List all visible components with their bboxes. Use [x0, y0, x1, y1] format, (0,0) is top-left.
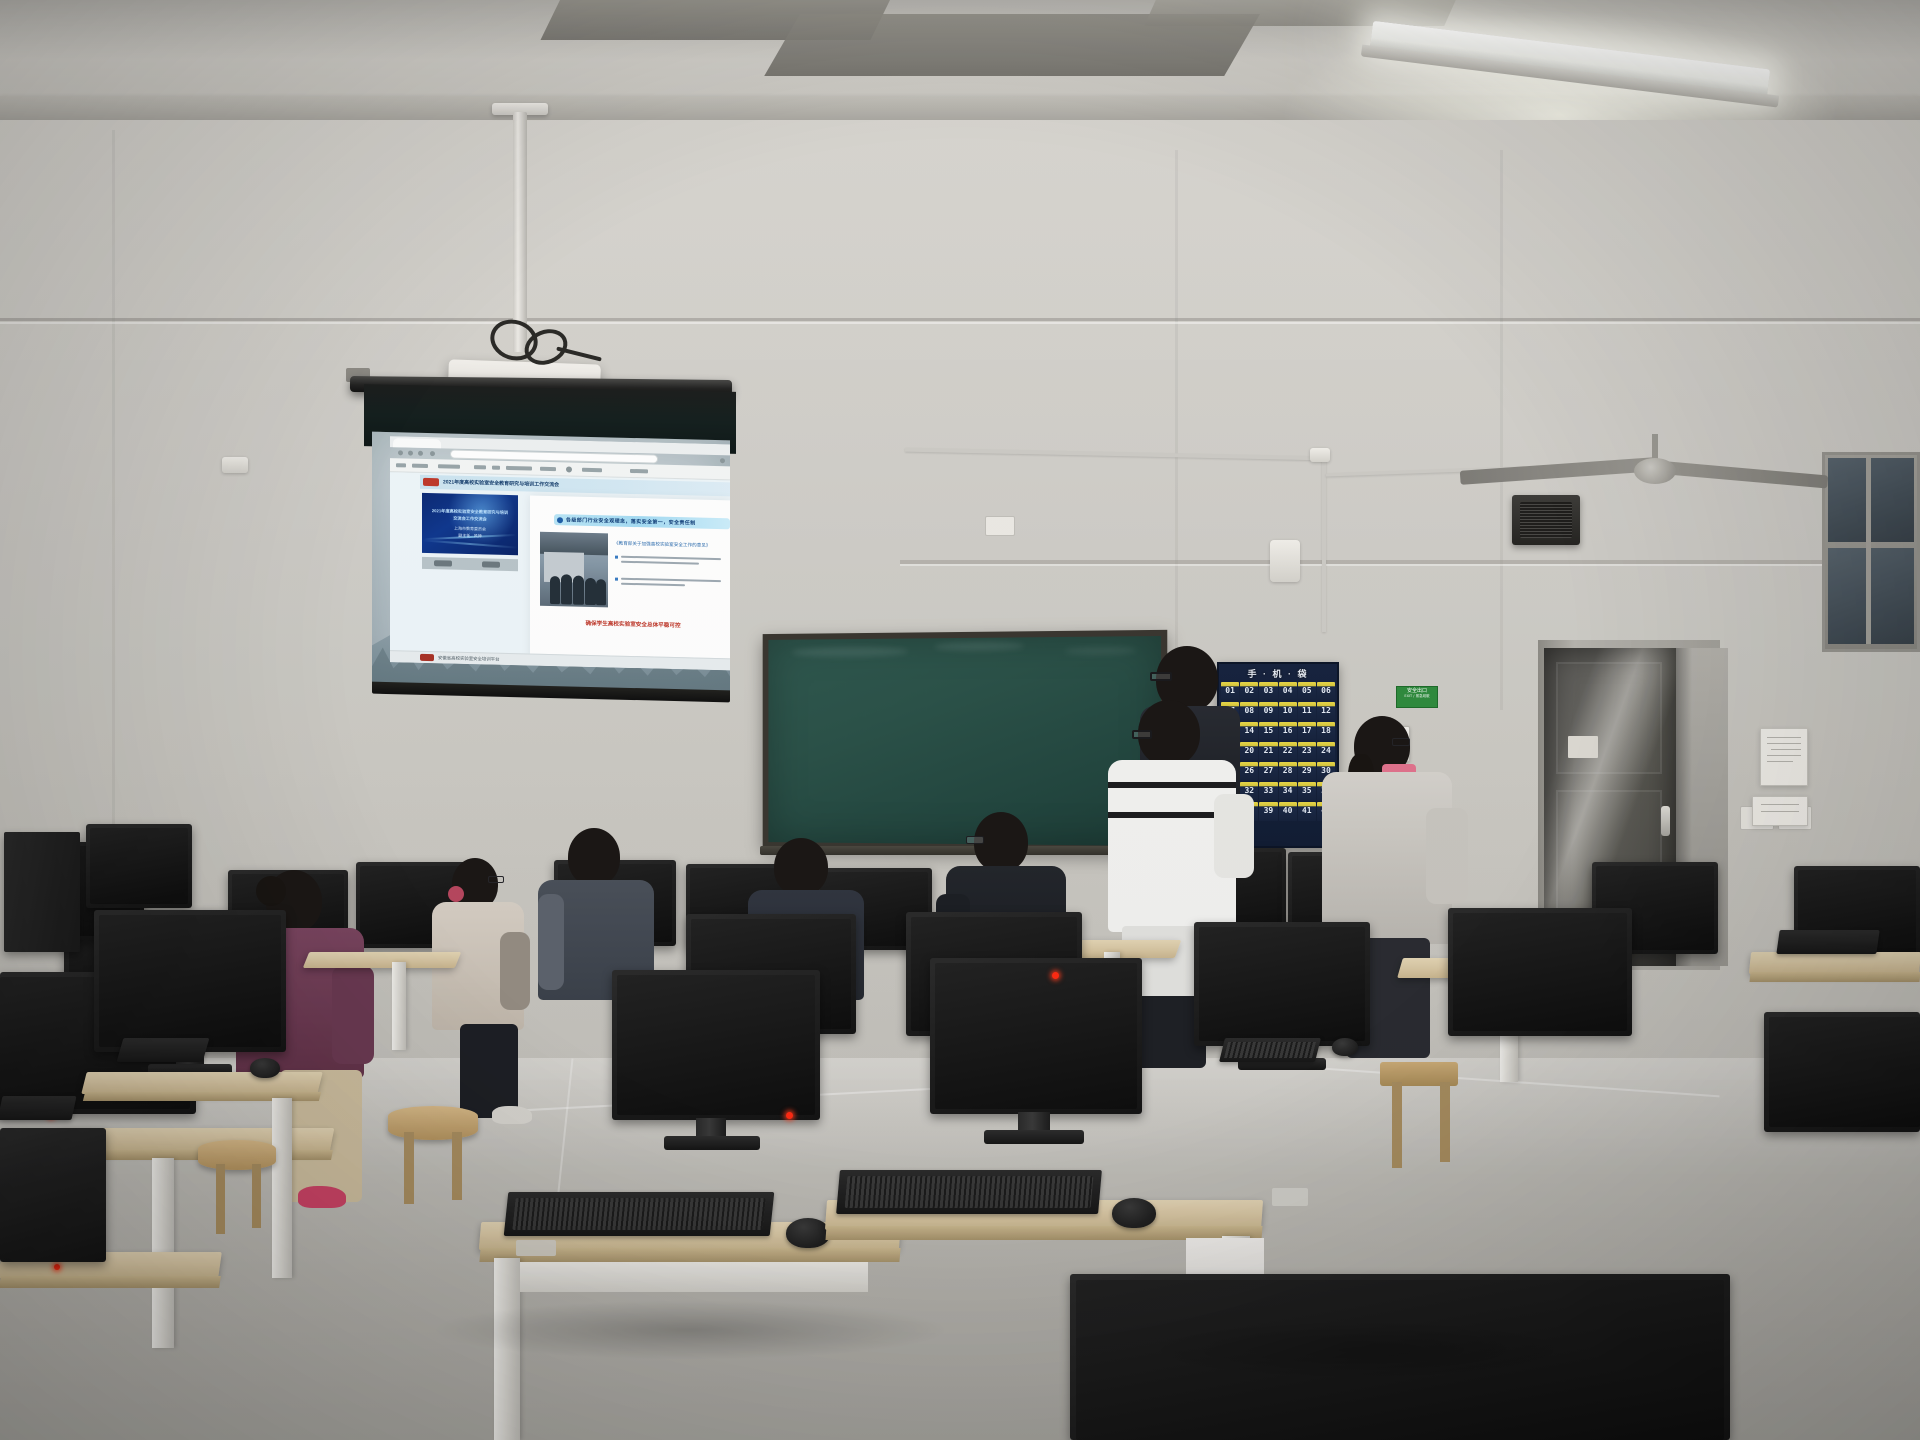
keyboard-farright[interactable]: [1776, 930, 1879, 954]
wall-poster-2: [1752, 796, 1808, 826]
desk-back-left: [303, 952, 461, 968]
thumbnail-play-button[interactable]: [482, 561, 500, 567]
pocket-slot-34[interactable]: 34: [1279, 782, 1297, 801]
slide-bullet-line-1a: [621, 556, 721, 560]
mouse-front-right[interactable]: [1112, 1198, 1156, 1228]
monitor-mid-5-screen: [1453, 913, 1627, 1031]
person-head: [568, 828, 620, 886]
person-sleeve: [538, 894, 564, 990]
classroom-photo: HITACHI: [0, 0, 1920, 1440]
mouse-front-center[interactable]: [786, 1218, 830, 1248]
poster-line: [1771, 749, 1801, 750]
ceiling-duct-3: [1144, 0, 1456, 26]
page-footer-logo-icon: [420, 654, 434, 661]
poster-line: [1767, 737, 1801, 738]
poster-line: [1761, 804, 1799, 805]
floor-shadow-right: [1140, 1320, 1580, 1380]
pocket-slot-06[interactable]: 06: [1317, 682, 1335, 701]
browser-home-icon[interactable]: [430, 451, 435, 456]
desk-farright: [1749, 952, 1920, 974]
slide-photo-person-1: [550, 576, 560, 604]
ceiling-fan-hub: [1634, 458, 1676, 484]
slide-photo: [540, 532, 608, 608]
slide-bullet-line-2a: [621, 578, 721, 582]
wall-band-lower-highlight: [900, 564, 1920, 566]
pocket-slot-03[interactable]: 03: [1259, 682, 1277, 701]
keyboard-front-left[interactable]: [0, 1096, 77, 1120]
pocket-slot-16[interactable]: 16: [1279, 722, 1297, 741]
tower-left: [4, 832, 80, 952]
desk-front-center-label: [516, 1240, 556, 1256]
chair-right-leg-1: [1392, 1082, 1402, 1168]
monitor-left-block-2-screen: [90, 828, 188, 904]
mouse-left-mid[interactable]: [250, 1058, 280, 1078]
pocket-slot-05[interactable]: 05: [1298, 682, 1316, 701]
slide-photo-person-5: [596, 579, 606, 605]
desk-front-right-label: [1272, 1188, 1308, 1206]
slide-bullet-dot-2: [615, 578, 618, 581]
pocket-slot-39[interactable]: 39: [1259, 802, 1277, 821]
chalk-smudge-2: [934, 641, 1024, 651]
browser-reload-icon[interactable]: [418, 451, 423, 456]
person-hair-tie: [448, 886, 464, 902]
wall-poster-1: [1760, 728, 1808, 786]
pocket-chart-row: 010203040506: [1221, 682, 1335, 701]
person-hair-bun: [256, 876, 286, 906]
exit-sign: 安全出口 EXIT / 紧急疏散: [1396, 686, 1438, 708]
person-glasses: [488, 876, 504, 883]
wall-band-upper: [0, 318, 1920, 321]
pocket-slot-02[interactable]: 02: [1240, 682, 1258, 701]
person-glasses: [1150, 672, 1172, 681]
pocket-slot-08[interactable]: 08: [1240, 702, 1258, 721]
pocket-slot-17[interactable]: 17: [1298, 722, 1316, 741]
pocket-slot-20[interactable]: 20: [1240, 742, 1258, 761]
slide-viewer[interactable]: 各级部门行业安全观理念，落实安全第一，安全责任制 《教育部关于加强高校实验室安全…: [530, 495, 730, 668]
slide-bullet-line-2b: [621, 583, 685, 587]
stool-left[interactable]: [198, 1140, 276, 1170]
wall-conduit-vertical: [1322, 452, 1326, 632]
pocket-slot-11[interactable]: 11: [1298, 702, 1316, 721]
pocket-slot-01[interactable]: 01: [1221, 682, 1239, 701]
pocket-slot-26[interactable]: 26: [1240, 762, 1258, 781]
toolbar-item-extra2[interactable]: [630, 469, 648, 473]
pocket-slot-29[interactable]: 29: [1298, 762, 1316, 781]
toolbar-item-help[interactable]: [540, 467, 556, 471]
pocket-slot-23[interactable]: 23: [1298, 742, 1316, 761]
person-shoe: [298, 1186, 346, 1208]
pocket-slot-41[interactable]: 41: [1298, 802, 1316, 821]
wall-seam-3: [1500, 150, 1503, 710]
stool-center-leg-2: [452, 1132, 462, 1200]
pocket-slot-09[interactable]: 09: [1259, 702, 1277, 721]
person-glasses: [1392, 738, 1410, 746]
person-head: [774, 838, 828, 896]
keyboard-left-mid[interactable]: [117, 1038, 210, 1062]
person-arm: [1214, 794, 1254, 878]
stool-left-leg: [216, 1164, 225, 1234]
monitor-farleft: [0, 1128, 106, 1262]
desk-back-left-leg: [392, 962, 406, 1050]
keyboard-mid-2-keys: [1224, 1042, 1316, 1058]
poster-line: [1767, 761, 1793, 762]
floor-shadow-center: [430, 1300, 950, 1360]
monitor-front-center-led: [786, 1112, 793, 1119]
window-glass-upper: [1828, 458, 1914, 542]
desk-front-center-apron: [520, 1262, 868, 1292]
toolbar-item-file[interactable]: [396, 463, 406, 467]
door-handle[interactable]: [1661, 806, 1670, 836]
keyboard-front-center-keys: [512, 1198, 765, 1230]
browser-menu-icon[interactable]: [720, 458, 725, 463]
person-leg: [460, 1024, 518, 1118]
poster-line: [1767, 743, 1801, 744]
wall-sensor-left: [222, 457, 248, 473]
monitor-front-right-base: [984, 1130, 1084, 1144]
wall-sensor-right: [1310, 448, 1330, 462]
browser-back-icon[interactable]: [398, 450, 403, 455]
pocket-slot-40[interactable]: 40: [1279, 802, 1297, 821]
green-chalkboard: [763, 630, 1168, 852]
thumbnail-wave-2: [422, 539, 518, 548]
keyboard-front-right-keys: [845, 1176, 1094, 1208]
slide-photo-person-3: [573, 576, 584, 605]
pocket-slot-12[interactable]: 12: [1317, 702, 1335, 721]
wall-outlet-1: [985, 516, 1015, 536]
slide-photo-person-2: [561, 574, 572, 604]
window-glass-lower: [1828, 548, 1914, 644]
chair-right-leg-2: [1440, 1082, 1450, 1162]
speaker-grill: [1520, 502, 1572, 538]
toolbar-search-icon[interactable]: [566, 466, 572, 472]
stool-center-leg-1: [404, 1132, 414, 1204]
pocket-slot-15[interactable]: 15: [1259, 722, 1277, 741]
pocket-slot-22[interactable]: 22: [1279, 742, 1297, 761]
exit-sign-line2: EXIT / 紧急疏散: [1399, 694, 1435, 698]
browser-window: 2021年度高校实验室安全教育研究与培训工作交流会 2021年度高校实验室安全教…: [390, 436, 730, 670]
door-sign: [1568, 736, 1598, 758]
poster-line: [1767, 755, 1801, 756]
monitor-front-center-screen: [617, 975, 815, 1115]
wall-band-upper-highlight: [0, 322, 1920, 324]
pocket-slot-04[interactable]: 04: [1279, 682, 1297, 701]
projection-screen: 2021年度高校实验室安全教育研究与培训工作交流会 2021年度高校实验室安全教…: [372, 432, 730, 695]
chalk-smudge-1: [791, 646, 908, 657]
slide-red-caption: 确保学生高校实验室安全总体平稳可控: [544, 618, 722, 632]
monitor-front-center-base: [664, 1136, 760, 1150]
pocket-slot-24[interactable]: 24: [1317, 742, 1335, 761]
monitor-farleft-led: [54, 1264, 60, 1270]
desk-left-mid: [81, 1072, 322, 1094]
desk-left-mid-leg: [272, 1098, 292, 1278]
presentation-thumbnail[interactable]: 2021年度高校实验室安全教育研究与培训 交流会工作交流会 上海市教育委员会 副…: [422, 493, 518, 555]
monitor-mid-4-screen: [1199, 927, 1365, 1041]
person-glasses: [1132, 730, 1152, 739]
thumbnail-title-line2: 交流会工作交流会: [428, 514, 512, 523]
chalk-smudge-3: [1065, 646, 1137, 655]
thumbnail-download-button[interactable]: [434, 560, 452, 566]
browser-forward-icon[interactable]: [408, 451, 413, 456]
window-mullion: [1866, 458, 1871, 644]
pocket-chart-title: 手 · 机 · 袋: [1221, 667, 1335, 680]
pocket-slot-10[interactable]: 10: [1279, 702, 1297, 721]
desk-farleft-edge: [0, 1276, 221, 1288]
pocket-slot-18[interactable]: 18: [1317, 722, 1335, 741]
slide-bullet-dot-1: [615, 556, 618, 559]
person-glasses: [966, 836, 984, 844]
stool-left-leg-2: [252, 1164, 261, 1228]
slide-bullet-line-1b: [621, 561, 699, 565]
toolbar-item-format[interactable]: [492, 466, 500, 470]
toolbar-item-view[interactable]: [438, 464, 460, 469]
poster-line: [1761, 811, 1799, 812]
toolbar-item-insert[interactable]: [474, 465, 486, 469]
monitor-front-right-led: [1052, 972, 1059, 979]
person-shoe: [492, 1106, 532, 1124]
pocket-slot-14[interactable]: 14: [1240, 722, 1258, 741]
page-banner-logo-icon: [423, 478, 439, 486]
ceiling-beam-main: [0, 96, 1920, 122]
pocket-slot-27[interactable]: 27: [1259, 762, 1277, 781]
person-arm: [332, 966, 374, 1064]
monitor-farright-lower-screen: [1769, 1017, 1920, 1127]
person-arm: [500, 932, 530, 1010]
wall-seam-1: [112, 130, 115, 920]
browser-tab[interactable]: [393, 438, 441, 448]
toolbar-item-extra[interactable]: [582, 468, 602, 472]
person-arm: [1426, 808, 1468, 904]
slide-photo-person-4: [585, 578, 596, 605]
pocket-slot-33[interactable]: 33: [1259, 782, 1277, 801]
pocket-slot-21[interactable]: 21: [1259, 742, 1277, 761]
toolbar-item-edit[interactable]: [412, 464, 428, 468]
desk-farright-edge: [1749, 972, 1920, 982]
smoke-detector: [1270, 540, 1300, 582]
mouse-mid-2[interactable]: [1332, 1038, 1358, 1056]
monitor-front-right-screen: [935, 963, 1137, 1109]
slide-paren-note: 《教育部关于加强高校实验室安全工作的意见》: [614, 540, 724, 551]
pocket-slot-35[interactable]: 35: [1298, 782, 1316, 801]
toolbar-item-tools[interactable]: [506, 466, 532, 471]
monitor-left-big-screen: [99, 915, 281, 1047]
slide-headband-icon: [557, 517, 563, 523]
stool-center[interactable]: [388, 1106, 478, 1140]
pocket-slot-28[interactable]: 28: [1279, 762, 1297, 781]
